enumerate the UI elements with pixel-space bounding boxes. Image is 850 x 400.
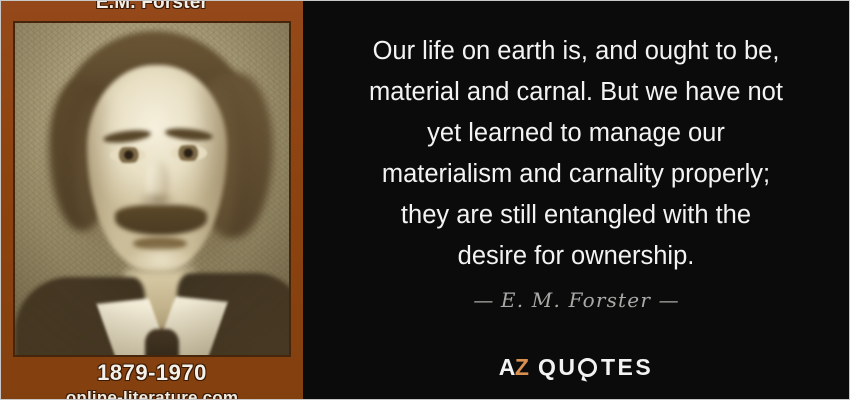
logo-letters-tes: TES [601,354,653,381]
attribution-dash-right: — [659,288,679,312]
quote-line: material and carnal. But we have not [325,72,827,113]
author-portrait-image [15,23,289,355]
author-card: E.M. Forster [1,1,303,400]
speech-bubble-ring [578,358,597,377]
author-card-title: E.M. Forster [1,1,303,14]
quote-text: Our life on earth is, and ought to be, m… [325,31,827,277]
quote-attribution: — E. M. Forster — [325,288,827,312]
portrait-vignette [15,23,289,355]
quote-line: they are still entangled with the [325,195,827,236]
quote-line: Our life on earth is, and ought to be, [325,31,827,72]
logo-letter-z: Z [515,354,529,381]
quote-line: yet learned to manage our [325,113,827,154]
author-lifespan: 1879-1970 [1,360,303,386]
author-card-source: online-literature.com [1,388,303,400]
speech-bubble-icon [578,358,597,377]
author-portrait-frame [13,21,291,357]
quote-card: E.M. Forster [0,0,850,400]
speech-bubble-tail [581,374,588,381]
logo-letter-a: A [499,354,515,381]
quote-line: materialism and carnality properly; [325,154,827,195]
attribution-dash-left: — [473,288,493,312]
azquotes-logo[interactable]: AZQUTES [325,352,827,382]
quote-panel: Our life on earth is, and ought to be, m… [303,1,849,399]
logo-letter-q: Q [538,354,558,381]
attribution-author-name: E. M. Forster [501,288,651,312]
quote-line: desire for ownership. [325,236,827,277]
logo-letter-u: U [558,354,577,381]
